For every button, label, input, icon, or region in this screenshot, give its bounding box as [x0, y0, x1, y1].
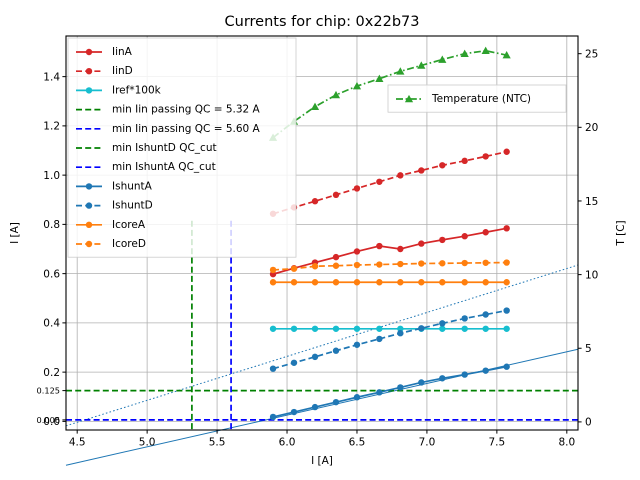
data-point-marker [86, 202, 92, 208]
data-point-marker [503, 364, 509, 370]
data-point-marker [376, 261, 382, 267]
data-point-marker [439, 162, 445, 168]
data-point-marker [503, 225, 509, 231]
data-point-marker [503, 307, 509, 313]
y-tick-label: 0.6 [43, 268, 60, 280]
data-point-marker [270, 414, 276, 420]
data-point-marker [439, 375, 445, 381]
data-point-marker [461, 233, 467, 239]
legend-label: min Iin passing QC = 5.60 A [112, 123, 261, 135]
data-point-marker [333, 279, 339, 285]
y2-tick-label: 25 [585, 48, 598, 60]
data-point-marker [482, 153, 488, 159]
y-tick-label-extra: 0.006 [37, 415, 60, 425]
data-point-marker [439, 260, 445, 266]
x-tick-label: 4.5 [69, 437, 86, 449]
data-point-marker [86, 68, 92, 74]
data-point-marker [333, 399, 339, 405]
x-tick-label: 5.5 [209, 437, 226, 449]
data-point-marker [503, 279, 509, 285]
legend-label: min IshuntA QC_cut [112, 161, 216, 173]
data-point-marker [333, 326, 339, 332]
y2-tick-label: 5 [585, 343, 592, 355]
data-point-marker [354, 326, 360, 332]
data-point-marker [482, 311, 488, 317]
data-point-marker [312, 279, 318, 285]
x-tick-label: 6.0 [279, 437, 296, 449]
data-point-marker [418, 167, 424, 173]
legend-label: IinA [112, 46, 133, 58]
y2-tick-label: 10 [585, 269, 598, 281]
data-point-marker [376, 279, 382, 285]
data-point-marker [397, 384, 403, 390]
data-point-marker [397, 330, 403, 336]
data-point-marker [439, 237, 445, 243]
data-point-marker [418, 325, 424, 331]
data-point-marker [270, 326, 276, 332]
legend-label: min Iin passing QC = 5.32 A [112, 104, 261, 116]
data-point-marker [312, 326, 318, 332]
data-point-marker [376, 326, 382, 332]
x-tick-label: 5.0 [139, 437, 156, 449]
data-point-marker [376, 389, 382, 395]
y-tick-label: 0.8 [43, 219, 60, 231]
legend-main: IinAIinDIref*100kmin Iin passing QC = 5.… [68, 38, 296, 257]
y-tick-label: 0.4 [43, 318, 60, 330]
data-point-marker [397, 261, 403, 267]
data-point-marker [461, 279, 467, 285]
data-point-marker [86, 183, 92, 189]
y-tick-label: 1.2 [43, 121, 60, 133]
legend-label: Temperature (NTC) [431, 93, 531, 105]
data-point-marker [397, 279, 403, 285]
data-point-marker [291, 409, 297, 415]
data-point-marker [86, 49, 92, 55]
data-point-marker [354, 342, 360, 348]
y-tick-label-extra: 0.125 [37, 386, 60, 396]
data-point-marker [270, 267, 276, 273]
data-point-marker [333, 192, 339, 198]
data-point-marker [461, 260, 467, 266]
y-tick-label: 1.0 [43, 170, 60, 182]
data-point-marker [376, 243, 382, 249]
legend-label: IshuntA [112, 180, 153, 192]
data-point-marker [333, 254, 339, 260]
data-point-marker [397, 246, 403, 252]
data-point-marker [439, 279, 445, 285]
data-point-marker [503, 149, 509, 155]
data-point-marker [312, 198, 318, 204]
y2-axis-label: T [C] [615, 220, 627, 246]
chart-title: Currents for chip: 0x22b73 [225, 14, 420, 30]
data-point-marker [482, 260, 488, 266]
x-tick-label: 7.0 [419, 437, 436, 449]
y-axis-label: I [A] [9, 222, 21, 244]
legend-label: Iref*100k [112, 84, 162, 96]
data-point-marker [418, 379, 424, 385]
y-tick-label: 1.4 [43, 71, 60, 83]
data-point-marker [418, 240, 424, 246]
data-point-marker [86, 241, 92, 247]
data-point-marker [291, 266, 297, 272]
data-point-marker [333, 348, 339, 354]
x-tick-label: 6.5 [349, 437, 366, 449]
data-point-marker [291, 279, 297, 285]
x-tick-label: 7.5 [489, 437, 506, 449]
chart-canvas: 4.55.05.56.06.57.07.58.00.00.20.40.60.81… [0, 0, 640, 480]
data-point-marker [482, 279, 488, 285]
data-point-marker [333, 263, 339, 269]
y2-tick-label: 0 [585, 417, 592, 429]
data-point-marker [270, 365, 276, 371]
data-point-marker [482, 229, 488, 235]
y2-tick-label: 15 [585, 196, 598, 208]
legend-label: IinD [112, 65, 133, 77]
data-point-marker [354, 279, 360, 285]
data-point-marker [461, 315, 467, 321]
data-point-marker [376, 179, 382, 185]
data-point-marker [270, 279, 276, 285]
data-point-marker [291, 360, 297, 366]
y-tick-label: 0.2 [43, 367, 60, 379]
data-point-marker [461, 158, 467, 164]
data-point-marker [376, 336, 382, 342]
legend-label: IshuntD [112, 200, 153, 212]
data-point-marker [482, 367, 488, 373]
data-point-marker [354, 394, 360, 400]
data-point-marker [461, 326, 467, 332]
data-point-marker [461, 371, 467, 377]
data-point-marker [418, 279, 424, 285]
legend-temperature: Temperature (NTC) [388, 85, 566, 112]
data-point-marker [397, 172, 403, 178]
data-point-marker [439, 320, 445, 326]
data-point-marker [503, 259, 509, 265]
data-point-marker [354, 262, 360, 268]
data-point-marker [312, 263, 318, 269]
data-point-marker [482, 326, 488, 332]
data-point-marker [86, 222, 92, 228]
chart-figure: 4.55.05.56.06.57.07.58.00.00.20.40.60.81… [0, 0, 640, 480]
data-point-marker [503, 326, 509, 332]
data-point-marker [354, 185, 360, 191]
x-axis-label: I [A] [311, 455, 333, 467]
legend-label: IcoreA [112, 219, 146, 231]
y2-tick-label: 20 [585, 122, 598, 134]
data-point-marker [312, 354, 318, 360]
data-point-marker [86, 87, 92, 93]
legend-label: IcoreD [112, 238, 146, 250]
legend-label: min IshuntD QC_cut [112, 142, 217, 154]
x-tick-label: 8.0 [558, 437, 575, 449]
data-point-marker [312, 404, 318, 410]
data-point-marker [418, 260, 424, 266]
data-point-marker [291, 326, 297, 332]
data-point-marker [354, 248, 360, 254]
